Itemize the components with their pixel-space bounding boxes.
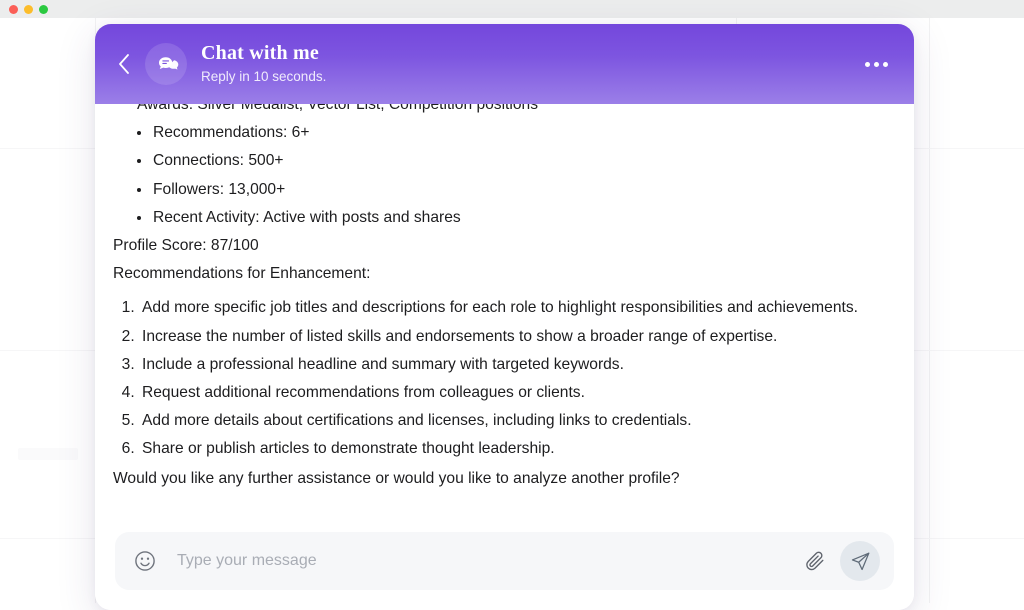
browser-title-bar: [0, 0, 1024, 18]
list-item: Recent Activity: Active with posts and s…: [137, 205, 896, 231]
chat-widget: Chat with me Reply in 10 seconds. Awards…: [95, 24, 914, 610]
message-input[interactable]: [169, 552, 790, 570]
chat-header: Chat with me Reply in 10 seconds.: [95, 24, 914, 104]
backdrop-block: [18, 448, 78, 460]
profile-stats-list: Recommendations: 6+ Connections: 500+ Fo…: [113, 120, 896, 231]
header-subtitle: Reply in 10 seconds.: [201, 68, 863, 86]
composer-bar: [115, 532, 894, 590]
more-options-button[interactable]: [863, 52, 890, 77]
message-list: Awards: Silver Medalist, Vector List, Co…: [113, 104, 896, 518]
window-minimize-button[interactable]: [24, 5, 33, 14]
message-scroll-area[interactable]: Awards: Silver Medalist, Vector List, Co…: [95, 104, 914, 518]
list-item: Share or publish articles to demonstrate…: [139, 436, 896, 462]
attach-file-button[interactable]: [802, 548, 828, 574]
list-item: Connections: 500+: [137, 148, 896, 174]
list-item: Request additional recommendations from …: [139, 380, 896, 406]
list-item: Include a professional headline and summ…: [139, 352, 896, 378]
chat-bubbles-icon: [153, 51, 179, 77]
list-item: Recommendations: 6+: [137, 120, 896, 146]
recommendations-list: Add more specific job titles and descrip…: [113, 295, 896, 462]
send-button[interactable]: [840, 541, 880, 581]
list-item: Followers: 13,000+: [137, 177, 896, 203]
message-composer: [95, 518, 914, 610]
closing-question-text: Would you like any further assistance or…: [113, 466, 896, 492]
profile-score-text: Profile Score: 87/100: [113, 233, 896, 259]
paperclip-icon: [804, 550, 826, 572]
recommendations-heading: Recommendations for Enhancement:: [113, 261, 896, 287]
smiley-face-icon: [134, 550, 156, 572]
bot-message: Awards: Silver Medalist, Vector List, Co…: [113, 104, 896, 493]
list-item: Add more specific job titles and descrip…: [139, 295, 896, 321]
avatar: [145, 43, 187, 85]
send-paper-plane-icon: [850, 551, 871, 572]
page-title: Chat with me: [201, 42, 863, 65]
list-item: Add more details about certifications an…: [139, 408, 896, 434]
window-close-button[interactable]: [9, 5, 18, 14]
header-text-group: Chat with me Reply in 10 seconds.: [201, 42, 863, 86]
backdrop-line: [929, 18, 930, 603]
more-options-icon: [865, 62, 870, 67]
emoji-button[interactable]: [133, 549, 157, 573]
clipped-message-line: Awards: Silver Medalist, Vector List, Co…: [137, 104, 896, 118]
list-item: Increase the number of listed skills and…: [139, 324, 896, 350]
chevron-left-icon: [117, 53, 131, 75]
window-maximize-button[interactable]: [39, 5, 48, 14]
more-options-icon: [883, 62, 888, 67]
back-button[interactable]: [109, 44, 139, 84]
more-options-icon: [874, 62, 879, 67]
